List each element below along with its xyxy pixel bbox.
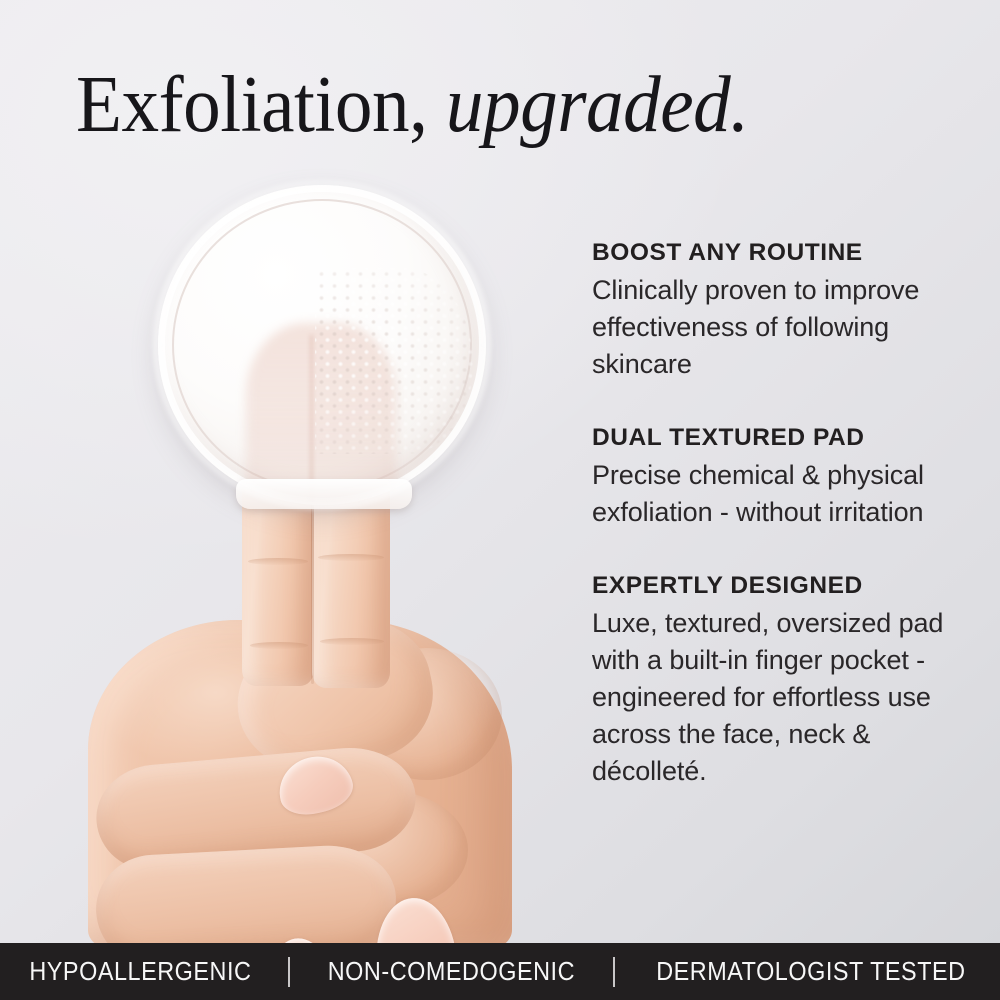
feature-boost-any-routine: BOOST ANY ROUTINE Clinically proven to i… <box>592 238 948 383</box>
feature-title: BOOST ANY ROUTINE <box>592 238 948 268</box>
product-photo <box>0 150 560 945</box>
feature-body: Clinically proven to improve effectivene… <box>592 272 948 383</box>
page-title: Exfoliation, upgraded. <box>76 62 884 148</box>
claim-separator <box>613 957 615 987</box>
finger-crease <box>318 554 384 561</box>
exfoliating-pad <box>158 185 486 505</box>
finger-crease <box>248 558 308 565</box>
feature-title: DUAL TEXTURED PAD <box>592 423 948 453</box>
claim-hypoallergenic: HYPOALLERGENIC <box>30 956 252 987</box>
headline-emphasis: upgraded. <box>446 61 749 149</box>
claims-banner: HYPOALLERGENIC NON-COMEDOGENIC DERMATOLO… <box>0 943 1000 1000</box>
feature-title: EXPERTLY DESIGNED <box>592 571 948 601</box>
pad-soft-rim <box>153 180 491 510</box>
headline-lead: Exfoliation, <box>76 61 427 149</box>
feature-dual-textured-pad: DUAL TEXTURED PAD Precise chemical & phy… <box>592 423 948 531</box>
claim-non-comedogenic: NON-COMEDOGENIC <box>328 956 575 987</box>
claim-separator <box>288 957 290 987</box>
feature-expertly-designed: EXPERTLY DESIGNED Luxe, textured, oversi… <box>592 571 948 790</box>
finger-crease <box>320 638 384 645</box>
product-feature-graphic: Exfoliation, upgraded. <box>0 0 1000 1000</box>
feature-body: Luxe, textured, oversized pad with a bui… <box>592 605 948 790</box>
feature-body: Precise chemical & physical exfoliation … <box>592 457 948 531</box>
claim-dermatologist-tested: DERMATOLOGIST TESTED <box>656 956 965 987</box>
finger-crease <box>250 642 308 649</box>
feature-list: BOOST ANY ROUTINE Clinically proven to i… <box>592 238 948 790</box>
